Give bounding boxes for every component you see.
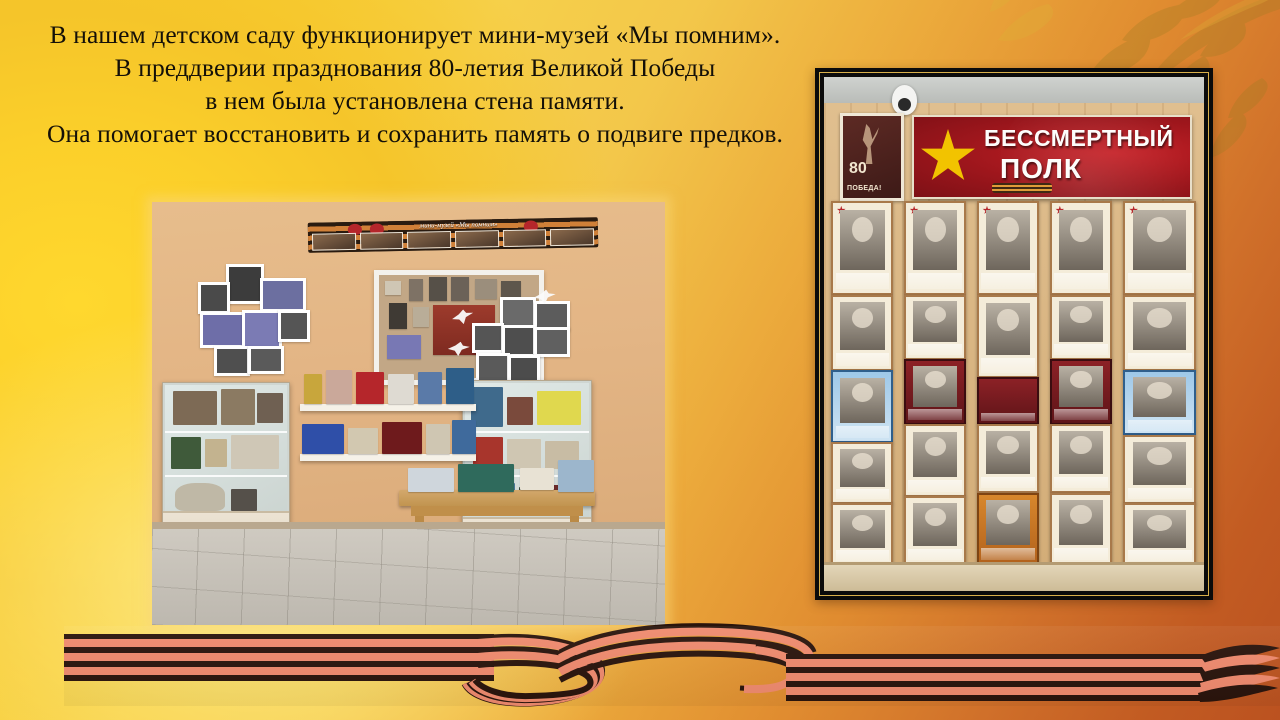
headline-line-2: В преддверии празднования 80-летия Велик… — [0, 51, 830, 84]
portrait-card — [1123, 370, 1197, 435]
portrait-card — [1123, 435, 1197, 504]
portrait-card — [904, 496, 966, 565]
portrait-grid — [830, 201, 1198, 561]
poster-80-victory: 80 ПОБЕДА! — [840, 113, 904, 201]
portrait-column — [903, 201, 968, 561]
wall-shelf-upper — [300, 404, 476, 411]
portrait-card — [1050, 201, 1112, 295]
portrait-column — [830, 201, 895, 561]
portrait-card — [1123, 201, 1197, 295]
table-top — [399, 490, 595, 506]
portrait-column — [1121, 201, 1198, 561]
george-ribbon-icon — [992, 183, 1052, 193]
portrait-card — [1050, 424, 1112, 493]
portrait-card — [831, 201, 893, 295]
portrait-column — [976, 201, 1041, 561]
wall-photo-collage-right — [472, 297, 576, 389]
victory-star-icon — [920, 129, 976, 185]
portrait-card — [977, 377, 1039, 424]
museum-floor — [152, 529, 665, 625]
slide-canvas: В нашем детском саду функционирует мини-… — [0, 0, 1280, 720]
portrait-card — [831, 370, 893, 442]
headline-line-1: В нашем детском саду функционирует мини-… — [0, 18, 830, 51]
slide-headline: В нашем детском саду функционирует мини-… — [0, 18, 830, 150]
george-ribbon-decoration — [0, 610, 1280, 720]
museum-banner-strip: мини-музей «Мы помним» — [308, 217, 599, 253]
table-apron — [411, 506, 583, 516]
portrait-card — [977, 424, 1039, 493]
ceiling — [824, 77, 1204, 105]
portrait-card — [1123, 503, 1197, 565]
wall-photo-collage-left — [198, 264, 316, 372]
security-camera-icon — [892, 85, 917, 115]
motherland-statue-icon — [857, 124, 879, 164]
portrait-card — [831, 295, 893, 371]
poster-number: 80 — [849, 160, 867, 178]
headline-line-4: Она помогает восстановить и сохранить па… — [0, 117, 830, 150]
portrait-card — [831, 442, 893, 504]
museum-baseboard — [152, 522, 665, 529]
wall-bottom-ledge — [824, 562, 1204, 591]
memory-wall-image: 80 ПОБЕДА! БЕССМЕРТНЫЙ ПОЛК — [824, 77, 1204, 591]
portrait-card — [977, 295, 1039, 378]
headline-line-3: в нем была установлена стена памяти. — [0, 84, 830, 117]
portrait-card — [904, 424, 966, 496]
portrait-card — [904, 295, 966, 360]
poster-label: ПОБЕДА! — [847, 185, 882, 192]
portrait-card — [1050, 493, 1112, 565]
portrait-card — [904, 359, 966, 424]
banner-title-line-1: БЕССМЕРТНЫЙ — [984, 125, 1174, 152]
portrait-card — [977, 493, 1039, 565]
portrait-card — [1123, 295, 1197, 371]
wall-shelf-lower — [300, 454, 476, 461]
photo-memory-wall: 80 ПОБЕДА! БЕССМЕРТНЫЙ ПОЛК — [815, 68, 1213, 600]
portrait-card — [831, 503, 893, 565]
portrait-card — [977, 201, 1039, 295]
banner-title-line-2: ПОЛК — [1000, 153, 1082, 185]
museum-banner-text: мини-музей «Мы помним» — [420, 220, 498, 229]
photo-mini-museum-room: мини-музей «Мы помним» — [152, 202, 665, 625]
portrait-card — [1050, 295, 1112, 360]
portrait-card — [904, 201, 966, 295]
immortal-regiment-banner: БЕССМЕРТНЫЙ ПОЛК — [912, 115, 1192, 199]
portrait-column — [1049, 201, 1114, 561]
portrait-card — [1050, 359, 1112, 424]
case-glass — [163, 383, 289, 513]
